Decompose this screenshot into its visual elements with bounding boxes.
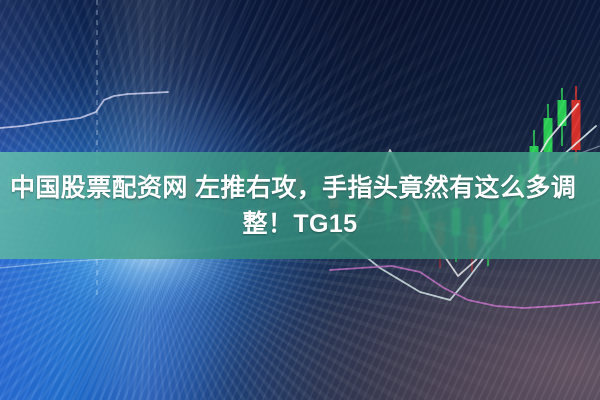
headline-line-2: 整！TG15 <box>243 207 358 241</box>
headline-block: 中国股票配资网 左推右攻，手指头竟然有这么多调 整！TG15 <box>0 152 600 259</box>
headline-line-1: 中国股票配资网 左推右攻，手指头竟然有这么多调 <box>10 171 576 205</box>
banner-image: 中国股票配资网 左推右攻，手指头竟然有这么多调 整！TG15 <box>0 0 600 400</box>
